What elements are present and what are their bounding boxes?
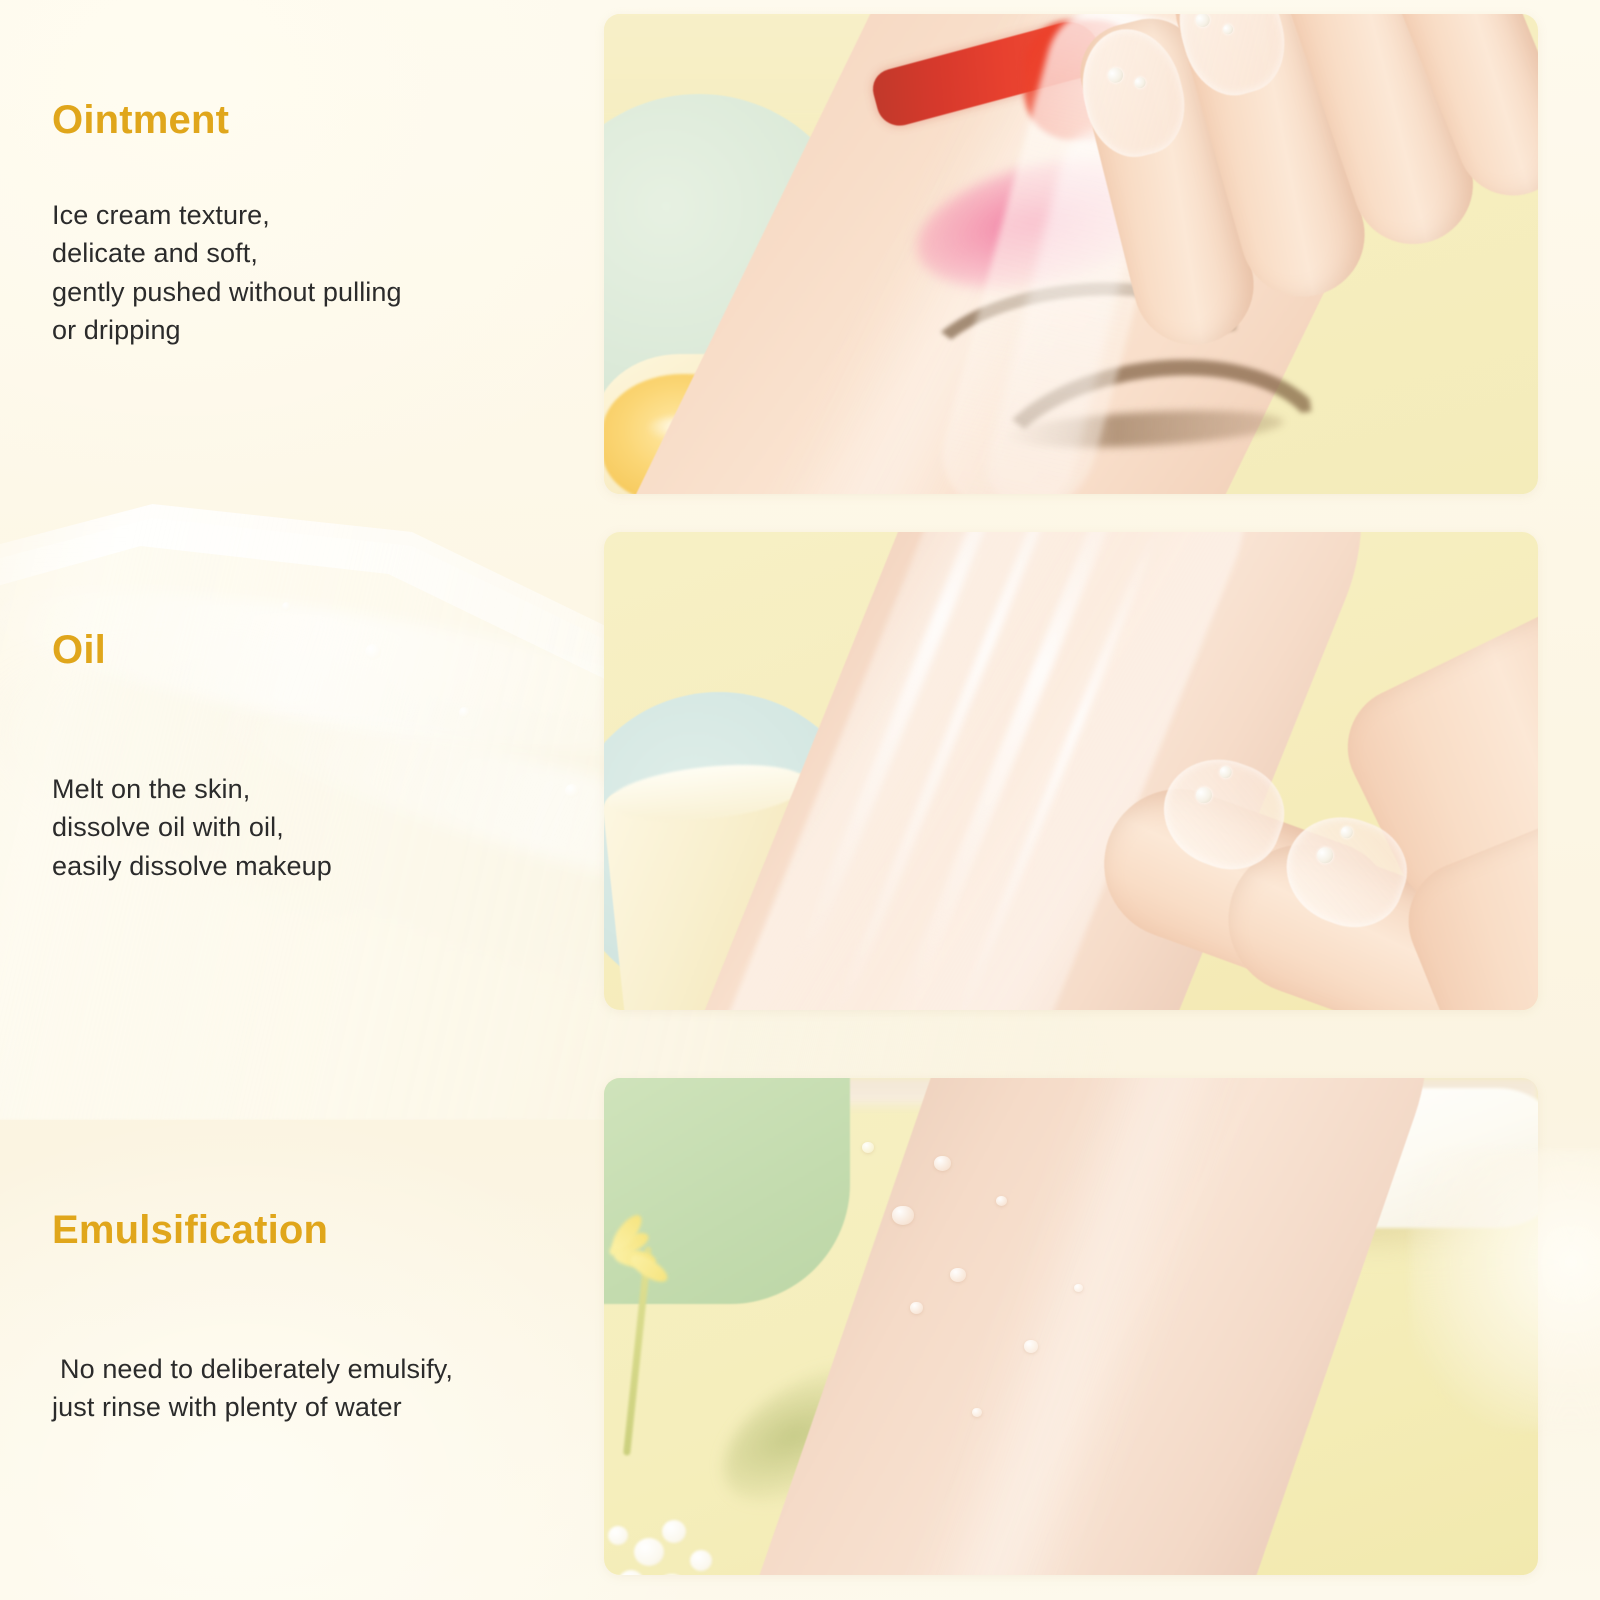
feature-title-oil: Oil (52, 628, 592, 672)
flower-cluster-node (634, 1538, 664, 1566)
flower-cluster-node (656, 1574, 688, 1575)
water-droplet (910, 1302, 923, 1314)
feature-title-emulsification: Emulsification (52, 1208, 592, 1252)
feature-photo-ointment (604, 14, 1538, 494)
yellow-flower-prop (604, 1216, 682, 1286)
water-droplet (892, 1206, 914, 1225)
water-droplet (996, 1196, 1007, 1206)
flower-cluster-node (618, 1570, 644, 1575)
flower-cluster-node (662, 1520, 686, 1543)
water-droplet (972, 1408, 982, 1417)
feature-text-column: Ointment Ice cream texture, delicate and… (0, 0, 600, 1600)
feature-title-ointment: Ointment (52, 98, 592, 142)
water-droplet (950, 1268, 966, 1282)
feature-block-ointment: Ointment Ice cream texture, delicate and… (52, 98, 592, 349)
product-feature-page: Ointment Ice cream texture, delicate and… (0, 0, 1600, 1600)
feature-body-ointment: Ice cream texture, delicate and soft, ge… (52, 196, 592, 349)
water-droplet (1024, 1340, 1038, 1353)
water-droplet (1074, 1284, 1083, 1292)
feature-photo-oil: TWO CLEANSING BALM (604, 532, 1538, 1010)
feature-photo-emulsification (604, 1078, 1538, 1575)
feature-block-emulsification: Emulsification No need to deliberately e… (52, 1208, 592, 1427)
feature-body-oil: Melt on the skin, dissolve oil with oil,… (52, 770, 592, 885)
feature-block-oil: Oil Melt on the skin, dissolve oil with … (52, 628, 592, 885)
feature-body-emulsification: No need to deliberately emulsify, just r… (52, 1350, 592, 1427)
flower-cluster-node (690, 1550, 712, 1571)
flower-cluster-node (608, 1526, 628, 1545)
water-droplet (862, 1142, 874, 1153)
water-droplet (934, 1156, 951, 1171)
